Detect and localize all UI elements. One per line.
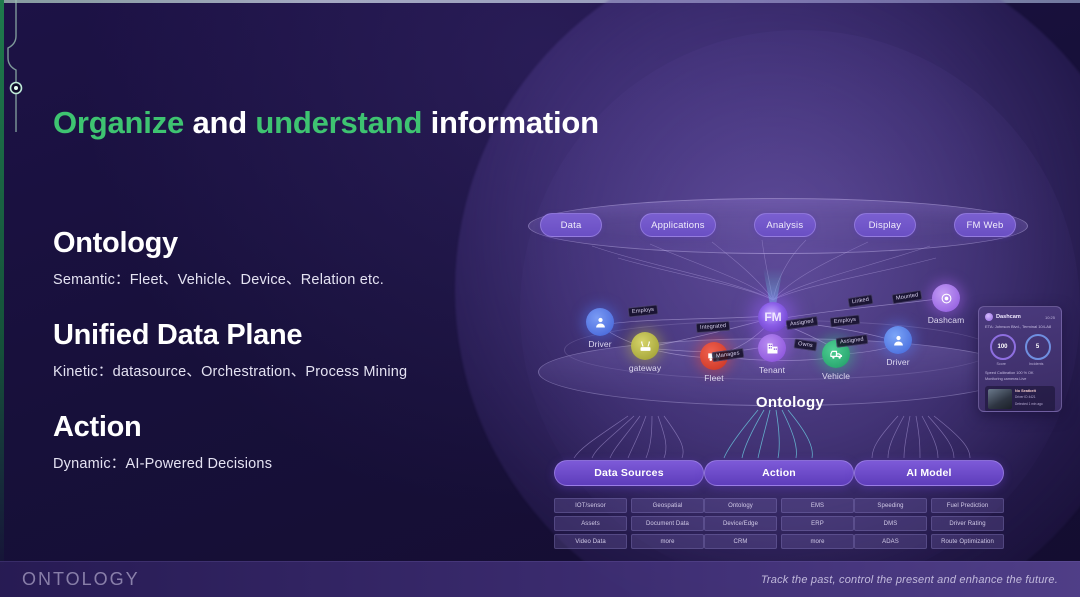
- tag-item[interactable]: ERP: [781, 516, 854, 531]
- block-title: Ontology: [53, 228, 384, 259]
- page-title: Organize and understand information: [53, 105, 599, 141]
- headline-accent-1: Organize: [53, 105, 184, 140]
- footer-brand: ONTOLOGY: [22, 569, 140, 590]
- group-ai-model: AI Model Speeding Fuel Prediction DMS Dr…: [854, 460, 1004, 549]
- dashcam-stat-incidents-caption: Incidents: [1029, 362, 1043, 366]
- tag-item[interactable]: EMS: [781, 498, 854, 513]
- pill-analysis[interactable]: Analysis: [754, 213, 816, 237]
- pill-display[interactable]: Display: [854, 213, 916, 237]
- dashcam-status-lines: Speed Calibration 100 % OK Monitoring ca…: [985, 370, 1055, 382]
- tag-item[interactable]: Ontology: [704, 498, 777, 513]
- tag-item[interactable]: more: [631, 534, 704, 549]
- tag-item[interactable]: IOT/sensor: [554, 498, 627, 513]
- dashcam-stat-captions: Score Incidents: [985, 360, 1055, 366]
- left-wire-decoration: [0, 0, 40, 200]
- node-dashcam[interactable]: Dashcam: [918, 284, 974, 325]
- tag-item[interactable]: CRM: [704, 534, 777, 549]
- node-label: Vehicle: [808, 371, 864, 381]
- tag-item[interactable]: Document Data: [631, 516, 704, 531]
- top-capability-pills: Data Applications Analysis Display FM We…: [540, 210, 1016, 240]
- dashcam-detail-card[interactable]: Dashcam 10:25 ETA: Johnson Blvd., Termin…: [978, 306, 1062, 412]
- tag-item[interactable]: Video Data: [554, 534, 627, 549]
- dashcam-stat-score-caption: Score: [997, 362, 1006, 366]
- content-block-action: Action Dynamic：AI-Powered Decisions: [53, 412, 272, 473]
- dashcam-card-title: Dashcam: [996, 314, 1021, 320]
- content-block-unified-data-plane: Unified Data Plane Kinetic：datasource、Or…: [53, 320, 407, 381]
- slide-canvas: Organize and understand information Onto…: [0, 0, 1080, 597]
- footer-tagline: Track the past, control the present and …: [761, 574, 1058, 586]
- block-subtitle: Semantic：Fleet、Vehicle、Device、Relation e…: [53, 268, 384, 289]
- tag-item[interactable]: Assets: [554, 516, 627, 531]
- tag-grid-ai-model: Speeding Fuel Prediction DMS Driver Rati…: [854, 498, 1004, 549]
- block-subtitle: Kinetic：datasource、Orchestration、Process…: [53, 360, 407, 381]
- group-pill-data-sources[interactable]: Data Sources: [554, 460, 704, 486]
- group-pill-action[interactable]: Action: [704, 460, 854, 486]
- tag-item[interactable]: Speeding: [854, 498, 927, 513]
- dashcam-card-time: 10:25: [1045, 315, 1055, 320]
- person-icon: [586, 308, 614, 336]
- headline-plain-2: information: [422, 105, 599, 140]
- tag-item[interactable]: ADAS: [854, 534, 927, 549]
- node-label: Tenant: [744, 365, 800, 375]
- dashcam-event-sub-1: Driver ID 4421: [1015, 395, 1043, 400]
- headline-plain-1: and: [184, 105, 255, 140]
- dashcam-event-sub-2: Detected 1 min ago: [1015, 402, 1043, 407]
- tag-item[interactable]: more: [781, 534, 854, 549]
- group-pill-ai-model[interactable]: AI Model: [854, 460, 1004, 486]
- node-tenant[interactable]: Tenant: [744, 334, 800, 375]
- tag-item[interactable]: Geospatial: [631, 498, 704, 513]
- dashcam-status-line-2: Monitoring cameras Live: [985, 376, 1055, 382]
- node-label: gateway: [617, 363, 673, 373]
- dashcam-card-header: Dashcam 10:25: [985, 313, 1055, 321]
- pill-data[interactable]: Data: [540, 213, 602, 237]
- edge-label-employs: Employs: [628, 304, 659, 317]
- tag-item[interactable]: DMS: [854, 516, 927, 531]
- building-icon: [758, 334, 786, 362]
- tag-item[interactable]: Driver Rating: [931, 516, 1004, 531]
- dashcam-event-row[interactable]: No Seatbelt Driver ID 4421 Detected 1 mi…: [985, 386, 1055, 412]
- tag-item[interactable]: Route Optimization: [931, 534, 1004, 549]
- group-action: Action Ontology EMS Device/Edge ERP CRM …: [704, 460, 854, 549]
- tag-item[interactable]: Fuel Prediction: [931, 498, 1004, 513]
- block-title: Unified Data Plane: [53, 320, 407, 351]
- node-driver-secondary[interactable]: Driver: [870, 326, 926, 367]
- pill-fm-web[interactable]: FM Web: [954, 213, 1016, 237]
- dashcam-card-subtitle: ETA: Johnson Blvd., Terminal 104-A8: [985, 324, 1055, 329]
- ontology-hub-node[interactable]: FM: [758, 302, 788, 332]
- node-label: Fleet: [686, 373, 742, 383]
- node-label: Dashcam: [918, 315, 974, 325]
- edge-label-linked: Linked: [847, 294, 873, 308]
- block-title: Action: [53, 412, 272, 443]
- pill-applications[interactable]: Applications: [640, 213, 716, 237]
- ontology-architecture-diagram: Data Applications Analysis Display FM We…: [500, 170, 1080, 570]
- slide-footer: ONTOLOGY Track the past, control the pre…: [0, 561, 1080, 597]
- node-gateway[interactable]: gateway: [617, 332, 673, 373]
- dashcam-stat-score: 100: [990, 334, 1016, 360]
- group-data-sources: Data Sources IOT/sensor Geospatial Asset…: [554, 460, 704, 549]
- dashcam-badge-icon: [985, 313, 993, 321]
- dashcam-event-thumbnail: [988, 389, 1012, 409]
- tag-grid-data-sources: IOT/sensor Geospatial Assets Document Da…: [554, 498, 704, 549]
- headline-accent-2: understand: [255, 105, 422, 140]
- camera-icon: [932, 284, 960, 312]
- tag-grid-action: Ontology EMS Device/Edge ERP CRM more: [704, 498, 854, 549]
- router-icon: [631, 332, 659, 360]
- dashcam-event-title: No Seatbelt: [1015, 389, 1043, 393]
- block-subtitle: Dynamic：AI-Powered Decisions: [53, 452, 272, 473]
- person-icon: [884, 326, 912, 354]
- dashcam-stats: 100 5: [985, 334, 1055, 360]
- dashcam-stat-incidents: 5: [1025, 334, 1051, 360]
- node-label: Driver: [870, 357, 926, 367]
- content-block-ontology: Ontology Semantic：Fleet、Vehicle、Device、R…: [53, 228, 384, 289]
- hub-glyph-icon: FM: [764, 310, 781, 324]
- tag-item[interactable]: Device/Edge: [704, 516, 777, 531]
